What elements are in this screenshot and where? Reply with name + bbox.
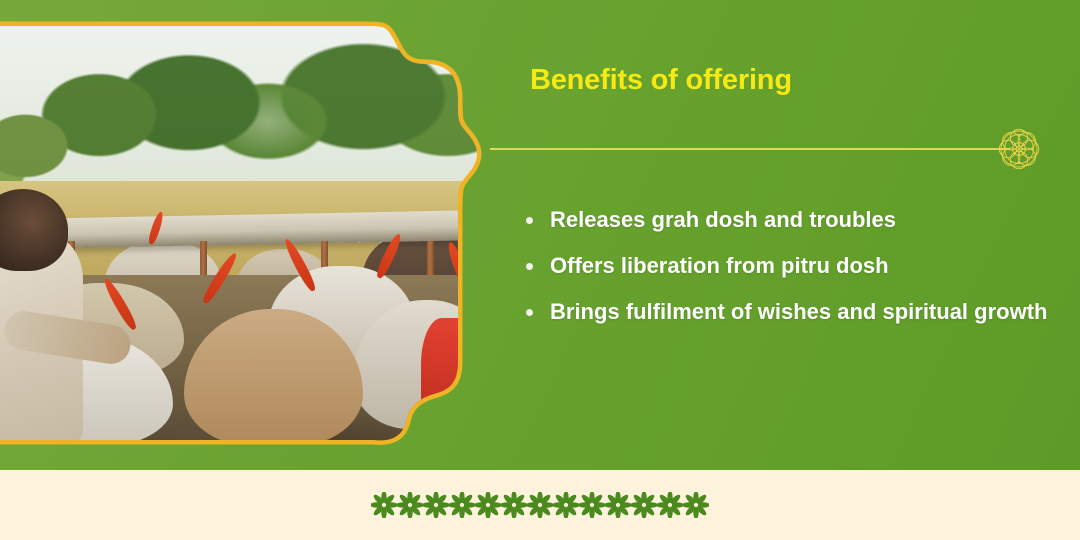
eight-point-flower (553, 492, 579, 518)
photo-shelter-post (427, 241, 434, 335)
eight-point-flower (397, 492, 423, 518)
title-divider (490, 148, 1010, 150)
eight-point-flower (475, 492, 501, 518)
list-item-label: Brings fulfilment of wishes and spiritua… (550, 299, 1047, 324)
list-item-label: Releases grah dosh and troubles (550, 207, 896, 232)
eight-point-flower (449, 492, 475, 518)
eight-point-flower (683, 492, 709, 518)
bullet-dot-icon (526, 263, 533, 270)
eight-point-flower (657, 492, 683, 518)
eight-point-flower (423, 492, 449, 518)
eight-point-flower (371, 492, 397, 518)
photo-frame-border (0, 18, 490, 446)
list-item: Brings fulfilment of wishes and spiritua… (512, 292, 1052, 332)
mandala-ornament (990, 120, 1048, 178)
page-title: Benefits of offering (530, 64, 792, 97)
benefits-list: Releases grah dosh and troubles Offers l… (512, 200, 1052, 338)
content-column: Benefits of offering (490, 0, 1080, 470)
photo-frame (0, 18, 490, 446)
photo-overlay (0, 18, 490, 446)
bullet-dot-icon (526, 217, 533, 224)
eight-point-flower (501, 492, 527, 518)
eight-point-flower (631, 492, 657, 518)
bullet-dot-icon (526, 309, 533, 316)
slide-canvas: Benefits of offering (0, 0, 1080, 540)
eight-point-flower (579, 492, 605, 518)
eight-point-flower (605, 492, 631, 518)
eight-point-flower (527, 492, 553, 518)
list-item: Offers liberation from pitru dosh (512, 246, 1052, 286)
farm-photo (0, 18, 490, 446)
list-item-label: Offers liberation from pitru dosh (550, 253, 889, 278)
flower-divider-strip (0, 470, 1080, 540)
list-item: Releases grah dosh and troubles (512, 200, 1052, 240)
